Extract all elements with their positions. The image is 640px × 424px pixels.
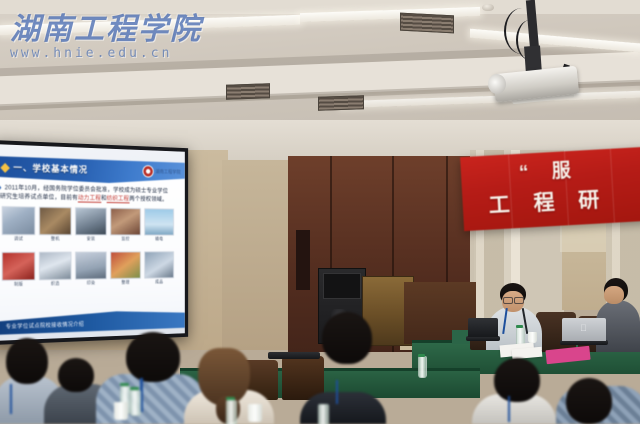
bottle-cap-2 [418, 354, 425, 357]
slide-photo-caption: 成品 [144, 279, 174, 285]
red-banner: “ 服 工 程 研 [460, 147, 640, 231]
wall-recess-dark [296, 230, 310, 290]
audience-6-lanyard [508, 396, 510, 422]
smoke-detector-icon [482, 4, 494, 11]
audience-3-head [126, 332, 180, 382]
banner-line-2: 工 程 研 [488, 183, 609, 220]
slide-photo-image [2, 252, 35, 281]
slide-title: 一、学校基本情况 [13, 161, 88, 176]
audience-5-body [300, 392, 386, 424]
bottle-cap [516, 325, 523, 328]
slide-photo-caption: 输电 [144, 236, 174, 242]
projection-screen-frame: 一、学校基本情况 湖南工程学院 ◆ 2011年10月，经国务院学位委员会批准，学… [0, 140, 188, 345]
slide-photo-cell: 成品 [144, 251, 174, 285]
right-person-face [604, 286, 624, 304]
audience-2-head [58, 358, 94, 392]
slide-text-highlight-2: 纺织工程 [107, 195, 129, 203]
slide-logo-text: 湖南工程学院 [155, 168, 180, 175]
water-bottle-2 [418, 356, 427, 378]
bottle-cap-fg-2 [130, 387, 139, 390]
slide-photo-image [110, 251, 141, 279]
conference-room-photo: 一、学校基本情况 湖南工程学院 ◆ 2011年10月，经国务院学位委员会批准，学… [0, 0, 640, 424]
slide-photo-image [75, 252, 107, 280]
slide-photo-image [39, 252, 71, 281]
slide-photo-image [2, 206, 35, 235]
wall-beige-mid [222, 160, 292, 350]
slide-photo-cell: 织造 [39, 252, 71, 287]
slide-photo-caption: 调试 [2, 236, 35, 242]
slide-photo-cell: 制版 [2, 252, 35, 288]
bottle-cap-fg-3 [226, 397, 235, 400]
banner-fold [610, 149, 615, 223]
ceiling-vent-3 [400, 13, 454, 34]
banner-line-1: “ 服 [518, 155, 580, 185]
audience-5-lanyard [336, 380, 338, 404]
bullet-icon: ◆ [0, 184, 2, 193]
presenter-glasses-icon [503, 297, 513, 304]
presentation-slide: 一、学校基本情况 湖南工程学院 ◆ 2011年10月，经国务院学位委员会批准，学… [0, 156, 185, 334]
slide-photo-cell: 安装 [75, 207, 107, 242]
ceiling-vent-1 [226, 83, 270, 100]
paper-cup [528, 332, 537, 343]
slide-body: ◆ 2011年10月，经国务院学位委员会批准，学校成为硕士专业学位 研究生培养试… [0, 183, 180, 204]
water-bottle-fg-4 [318, 404, 329, 424]
audience-7-head [566, 378, 612, 424]
slide-photo-caption: 织造 [39, 281, 71, 287]
slide-photo-caption: 制版 [2, 281, 35, 288]
water-bottle-fg-3 [226, 400, 237, 424]
school-seal-icon [143, 165, 154, 178]
slide-photo-cell: 整理 [110, 251, 141, 285]
speaker-grill [323, 273, 361, 299]
slide-photo-image [144, 251, 174, 278]
audience-6-head [494, 358, 540, 402]
paper-cup-fg-1 [114, 402, 128, 420]
laptop-lid [468, 318, 498, 337]
projection-screen: 一、学校基本情况 湖南工程学院 ◆ 2011年10月，经国务院学位委员会批准，学… [0, 144, 185, 341]
slide-photo-cell: 印染 [75, 252, 107, 287]
slide-photo-image [75, 207, 107, 235]
water-bottle-fg-2 [130, 390, 141, 416]
slide-photo-image [144, 208, 174, 235]
slide-logo: 湖南工程学院 [143, 165, 181, 178]
slide-photo-cell: 调试 [2, 206, 35, 242]
audience-1-head [6, 338, 48, 384]
paper-cup-fg-2 [248, 404, 262, 422]
slide-photo-row-2: 制版 织造 印染 整理 [2, 251, 180, 288]
slide-photo-caption: 整理 [110, 280, 141, 286]
apple-logo-icon:  [580, 324, 587, 333]
slide-text-highlight-1: 动力工程 [78, 195, 101, 203]
slide-photo-cell: 输电 [144, 208, 174, 242]
presenter-glasses-icon-2 [514, 297, 524, 304]
slide-photo-caption: 安装 [75, 236, 107, 242]
ceiling-vent-2 [318, 95, 364, 111]
audience-5-head [322, 312, 372, 364]
slide-photo-cell: 监控 [110, 208, 141, 242]
laptop-mid-base [268, 352, 320, 359]
bottle-cap-fg-1 [120, 383, 129, 386]
slide-photo-caption: 整机 [39, 236, 71, 242]
slide-photo-caption: 监控 [110, 236, 141, 242]
slide-photo-image [110, 208, 141, 236]
slide-text-line2-post: 两个授权领域。 [129, 196, 167, 203]
audience-1-lanyard [10, 384, 12, 414]
slide-photo-row-1: 调试 整机 安装 监控 [2, 206, 180, 242]
slide-photo-cell: 整机 [39, 207, 71, 242]
slide-text-line2-pre: 研究生培养试点单位，目前有 [0, 193, 78, 201]
slide-photo-image [39, 207, 71, 236]
slide-photo-caption: 印染 [75, 280, 107, 286]
